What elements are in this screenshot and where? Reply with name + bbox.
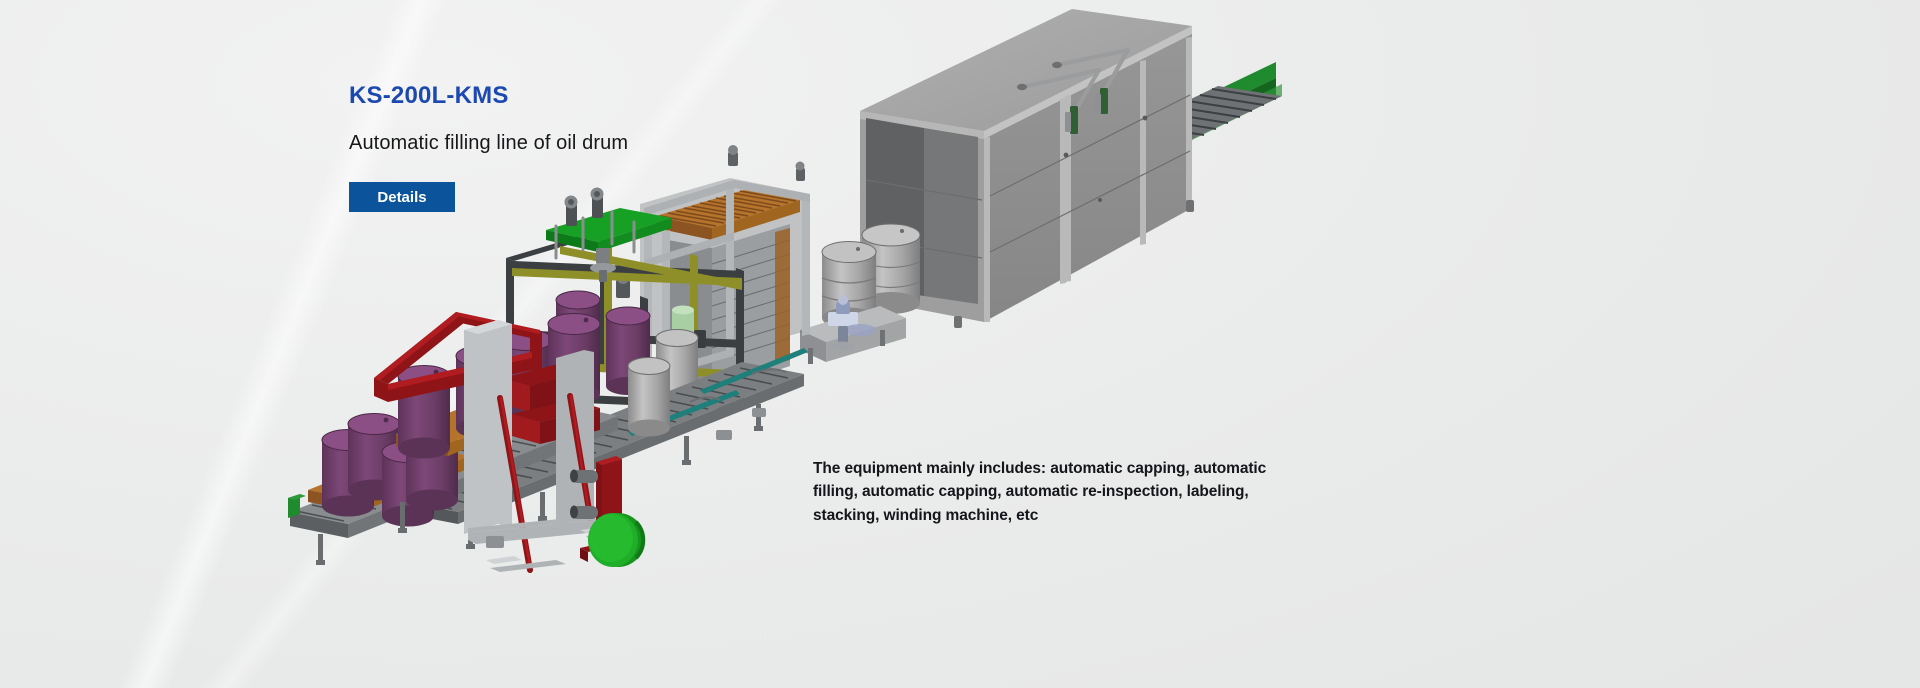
product-banner: KS-200L-KMS Automatic filling line of oi… <box>0 0 1920 688</box>
product-text-block: KS-200L-KMS Automatic filling line of oi… <box>349 83 869 155</box>
filling-cylinders <box>556 188 634 259</box>
pallet-infeed-conveyor <box>288 314 618 566</box>
pallet-magazine <box>616 145 810 400</box>
enclosed-stacking-cabinet <box>860 9 1282 328</box>
equipment-description: The equipment mainly includes: automatic… <box>813 457 1313 528</box>
cabinet-top-arms <box>1022 50 1128 110</box>
cabinet-grippers <box>1065 88 1108 134</box>
steel-drum <box>822 242 876 329</box>
mint-cylinder <box>672 306 694 349</box>
product-model-code: KS-200L-KMS <box>349 83 869 109</box>
roller-outfeed-conveyor <box>1122 62 1282 150</box>
details-button[interactable]: Details <box>349 182 455 212</box>
steel-drum <box>862 224 920 314</box>
drum-group-second <box>398 314 600 459</box>
steel-drums-group <box>822 224 920 329</box>
main-conveyor-deck <box>396 348 808 549</box>
capping-station <box>800 295 906 364</box>
product-name: Automatic filling line of oil drum <box>349 131 869 155</box>
drum-depalletizer-gantry <box>374 312 610 572</box>
filling-head <box>590 248 616 282</box>
drum-group-front <box>322 414 458 527</box>
filling-line-illustration <box>0 0 1920 688</box>
stretch-winding-machine <box>570 456 645 567</box>
auxiliary-details <box>486 369 786 548</box>
filling-gantry <box>506 188 744 437</box>
capping-head <box>828 295 876 351</box>
